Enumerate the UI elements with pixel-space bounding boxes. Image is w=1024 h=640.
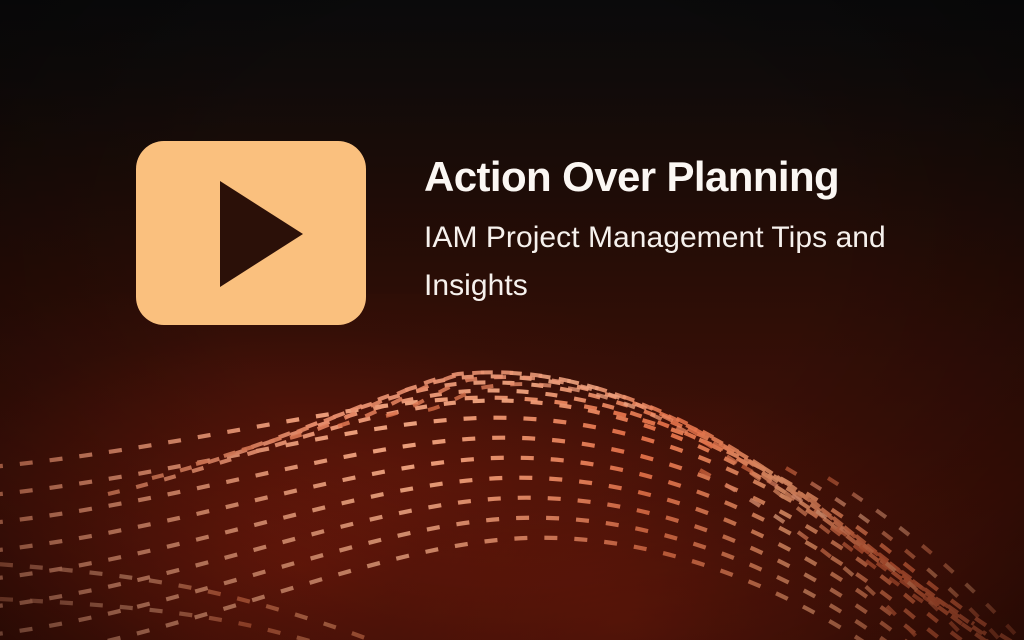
slide-text-block: Action Over Planning IAM Project Managem… bbox=[424, 141, 894, 311]
slide-headline: Action Over Planning bbox=[424, 155, 894, 200]
slide-content: Action Over Planning IAM Project Managem… bbox=[136, 141, 894, 325]
presentation-slide: Action Over Planning IAM Project Managem… bbox=[0, 0, 1024, 640]
slide-subheadline: IAM Project Management Tips and Insights bbox=[424, 214, 894, 311]
video-thumbnail-play-button[interactable] bbox=[136, 141, 366, 325]
play-icon bbox=[136, 141, 366, 325]
